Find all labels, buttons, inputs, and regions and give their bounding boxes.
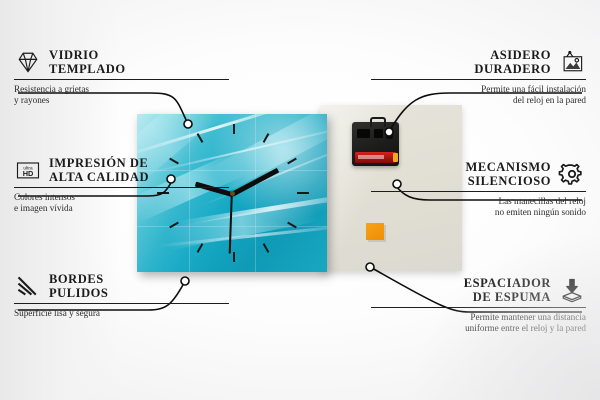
feature-impresion-alta-calidad: ultra HD IMPRESIÓN DE ALTA CALIDAD Color… — [14, 156, 229, 215]
feature-vidrio-templado: VIDRIO TEMPLADO Resistencia a grietas y … — [14, 48, 229, 107]
feature-divider — [14, 187, 229, 188]
feature-divider — [14, 79, 229, 80]
feature-title: MECANISMO SILENCIOSO — [465, 160, 551, 188]
feature-head: MECANISMO SILENCIOSO — [371, 160, 586, 188]
feature-subtitle: Permite mantener una distancia uniforme … — [371, 312, 586, 335]
framed-picture-icon — [558, 48, 586, 76]
feature-title: ASIDERO DURADERO — [474, 48, 551, 76]
feature-title: IMPRESIÓN DE ALTA CALIDAD — [49, 156, 149, 184]
feature-subtitle: Permite una fácil instalación del reloj … — [371, 84, 586, 107]
wire-endpoint-asidero — [385, 128, 393, 136]
diagonal-lines-icon — [14, 272, 42, 300]
feature-head: ASIDERO DURADERO — [371, 48, 586, 76]
feature-mecanismo-silencioso: MECANISMO SILENCIOSO Las manecillas del … — [371, 160, 586, 219]
feature-subtitle: Superficie lisa y segura — [14, 308, 229, 319]
feature-title: ESPACIADOR DE ESPUMA — [464, 276, 551, 304]
feature-asidero-duradero: ASIDERO DURADERO Permite una fácil insta… — [371, 48, 586, 107]
feature-title: VIDRIO TEMPLADO — [49, 48, 126, 76]
diamond-icon — [14, 48, 42, 76]
infographic-canvas: VIDRIO TEMPLADO Resistencia a grietas y … — [0, 0, 600, 400]
wire-endpoint-vidrio — [184, 120, 192, 128]
feature-bordes-pulidos: BORDES PULIDOS Superficie lisa y segura — [14, 272, 229, 319]
feature-divider — [371, 79, 586, 80]
feature-divider — [371, 191, 586, 192]
feature-subtitle: Resistencia a grietas y rayones — [14, 84, 229, 107]
feature-divider — [14, 303, 229, 304]
feature-head: ultra HD IMPRESIÓN DE ALTA CALIDAD — [14, 156, 229, 184]
feature-title: BORDES PULIDOS — [49, 272, 108, 300]
feature-head: ESPACIADOR DE ESPUMA — [371, 276, 586, 304]
feature-subtitle: Colores intensos e imagen vívida — [14, 192, 229, 215]
feature-head: BORDES PULIDOS — [14, 272, 229, 300]
foam-spacer-icon — [558, 276, 586, 304]
gear-icon — [558, 160, 586, 188]
svg-text:HD: HD — [23, 169, 34, 178]
wire-endpoint-espaciador — [366, 263, 374, 271]
feature-divider — [371, 307, 586, 308]
ultra-hd-icon: ultra HD — [14, 156, 42, 184]
feature-head: VIDRIO TEMPLADO — [14, 48, 229, 76]
feature-subtitle: Las manecillas del reloj no emiten ningú… — [371, 196, 586, 219]
feature-espaciador-de-espuma: ESPACIADOR DE ESPUMA Permite mantener un… — [371, 276, 586, 335]
